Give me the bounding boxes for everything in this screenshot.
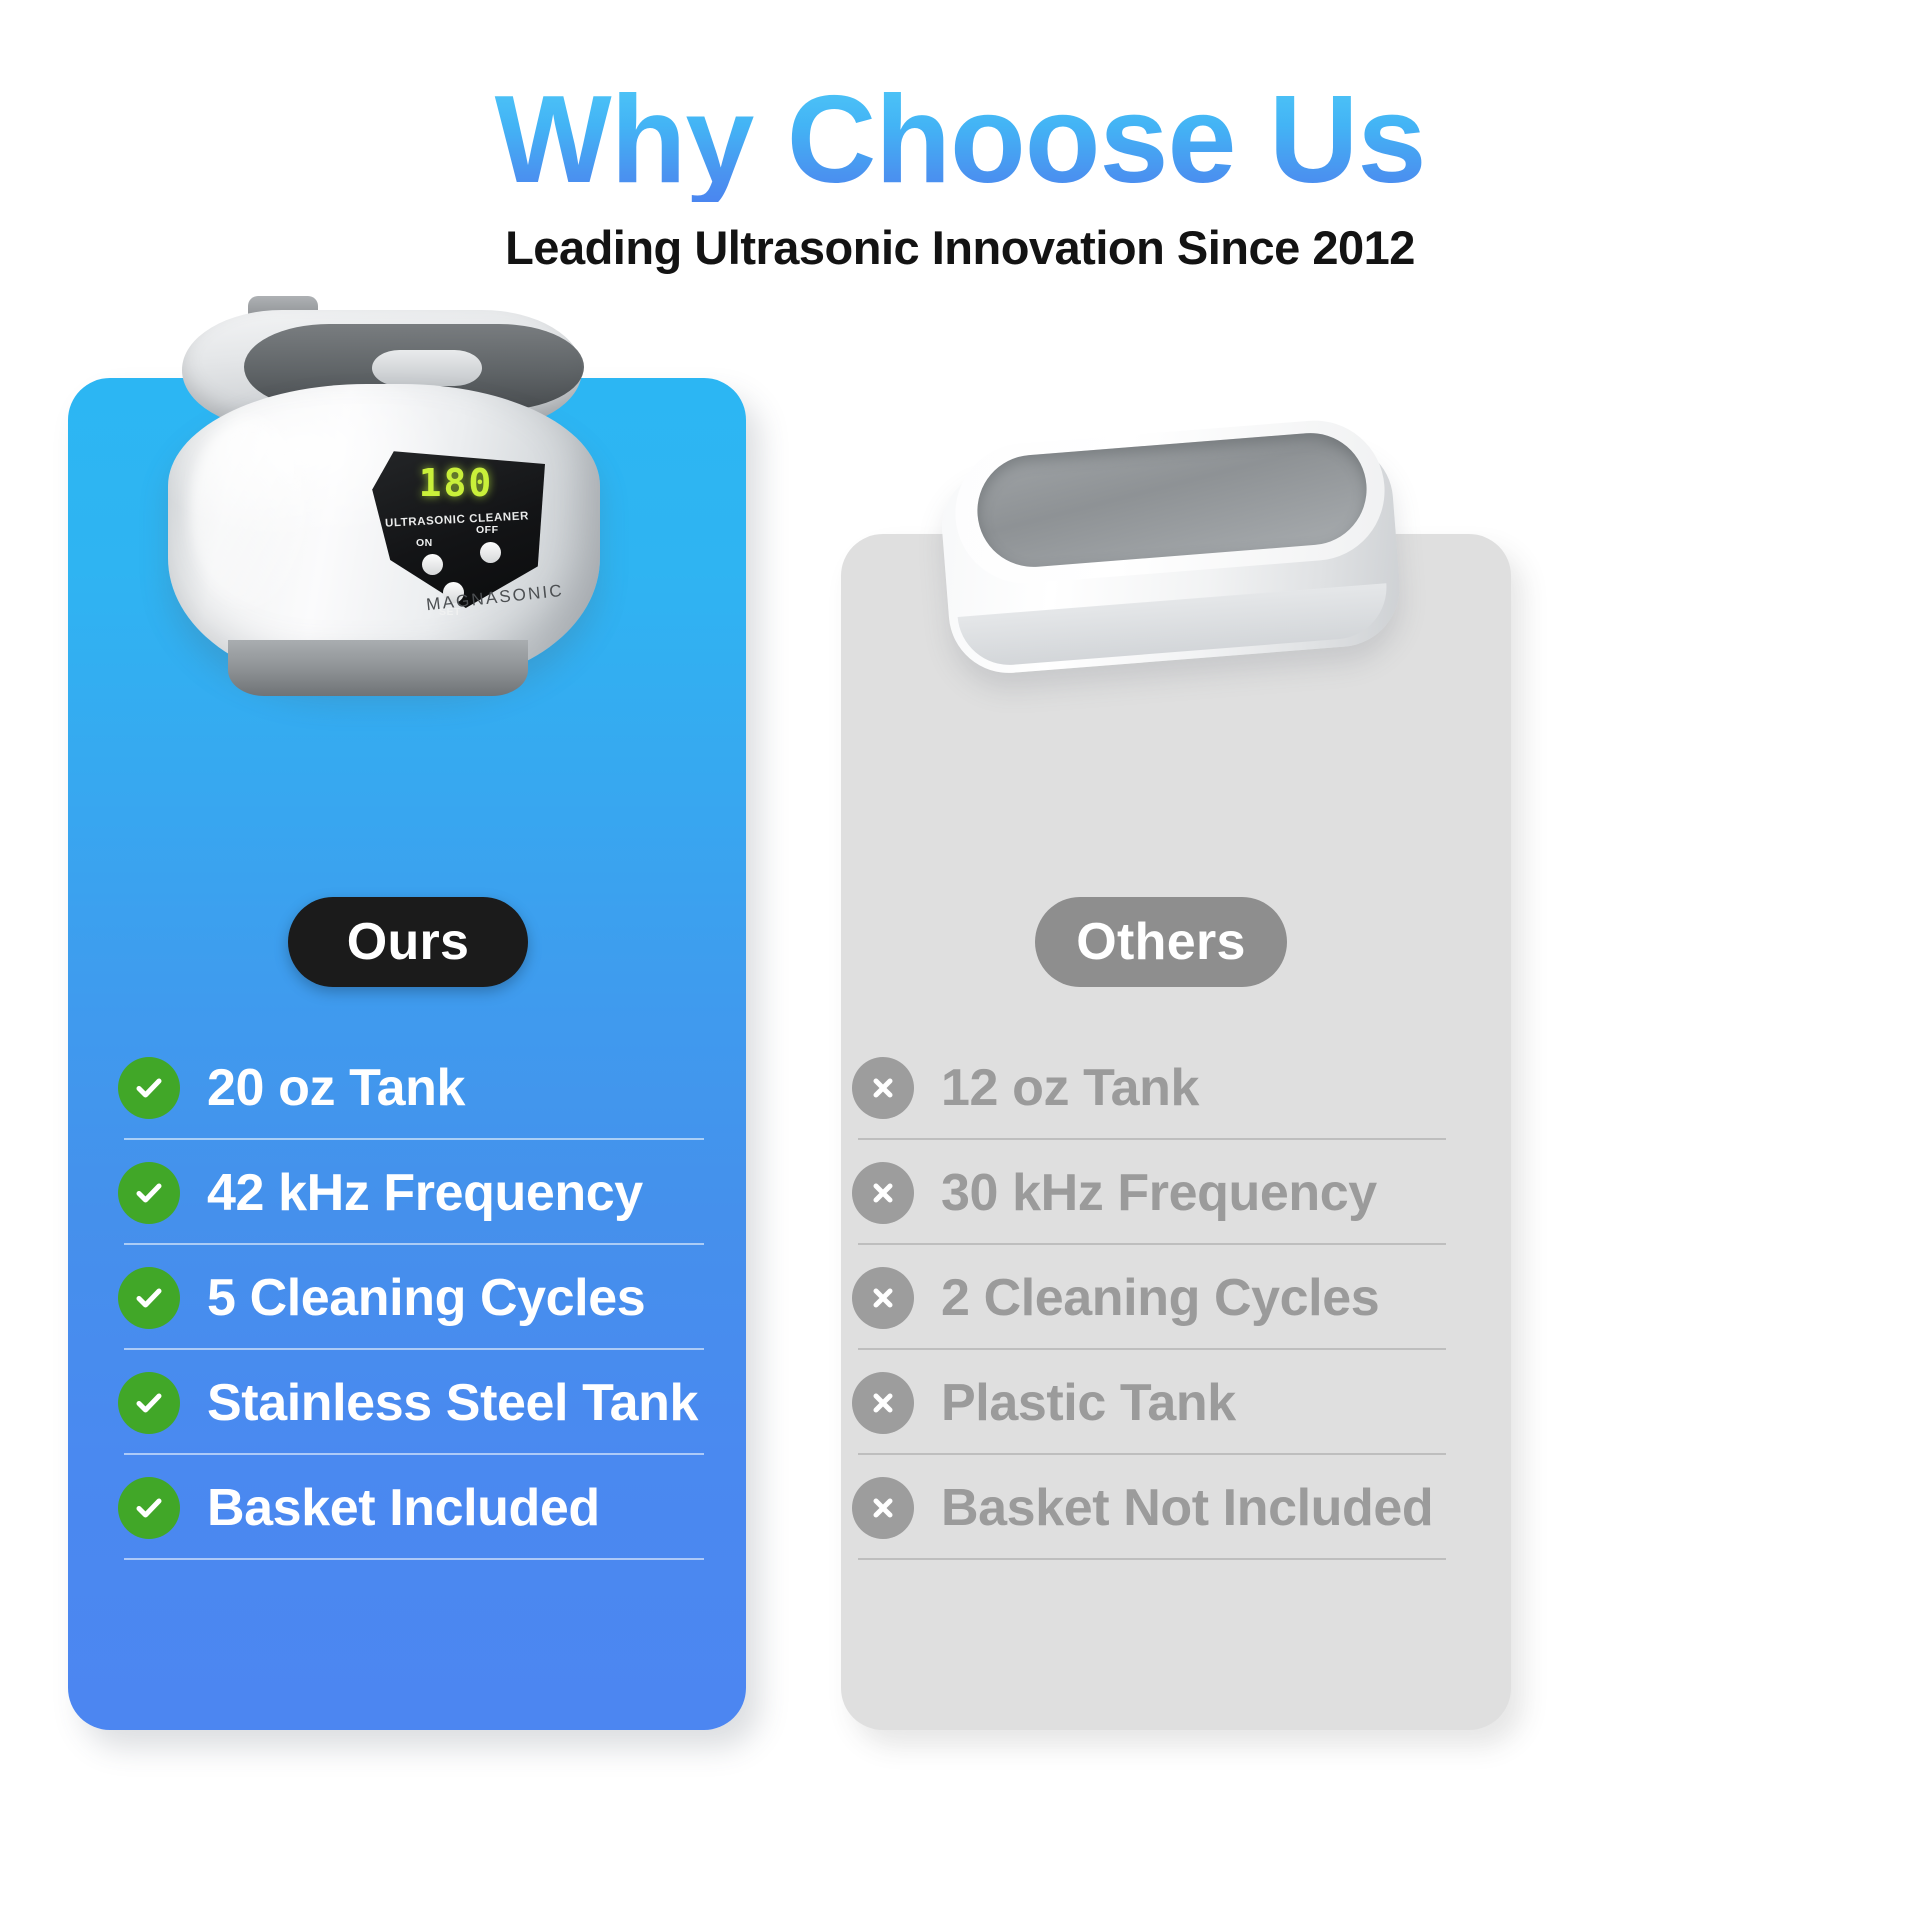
feature-list-others: 12 oz Tank 30 kHz Frequency 2 Cleaning C… (852, 1035, 1452, 1560)
check-circle-icon (118, 1477, 180, 1539)
badge-ours-label: Ours (347, 912, 470, 972)
power-off-button-label: OFF (476, 524, 499, 536)
list-item: 20 oz Tank (118, 1035, 710, 1140)
header: Why Choose Us Leading Ultrasonic Innovat… (0, 0, 1920, 275)
check-circle-icon (118, 1162, 180, 1224)
feature-label: 30 kHz Frequency (941, 1163, 1377, 1223)
list-item: Plastic Tank (852, 1350, 1452, 1455)
list-item: Basket Not Included (852, 1455, 1452, 1560)
cleaner-base (228, 640, 528, 696)
cleaner-body-highlight (190, 418, 310, 608)
feature-label: Stainless Steel Tank (207, 1373, 698, 1433)
badge-ours: Ours (288, 897, 528, 987)
list-item: 30 kHz Frequency (852, 1140, 1452, 1245)
page-subtitle: Leading Ultrasonic Innovation Since 2012 (0, 220, 1920, 275)
feature-label: 2 Cleaning Cycles (941, 1268, 1379, 1328)
power-off-button[interactable] (480, 542, 501, 563)
row-divider (124, 1558, 704, 1560)
power-on-button[interactable] (422, 554, 443, 575)
check-circle-icon (118, 1372, 180, 1434)
list-item: 42 kHz Frequency (118, 1140, 710, 1245)
feature-label: 5 Cleaning Cycles (207, 1268, 645, 1328)
led-display: 180 (408, 463, 504, 503)
feature-label: 20 oz Tank (207, 1058, 465, 1118)
product-image-ours: 180 ULTRASONIC CLEANER ON OFF SET MAGNAS… (150, 288, 620, 718)
list-item: 2 Cleaning Cycles (852, 1245, 1452, 1350)
feature-label: Plastic Tank (941, 1373, 1236, 1433)
cleaner-lid-notch (372, 350, 482, 386)
list-item: 5 Cleaning Cycles (118, 1245, 710, 1350)
cross-circle-icon (852, 1372, 914, 1434)
cross-circle-icon (852, 1162, 914, 1224)
check-circle-icon (118, 1267, 180, 1329)
product-image-others (945, 404, 1413, 704)
feature-label: 12 oz Tank (941, 1058, 1199, 1118)
badge-others-label: Others (1076, 912, 1245, 972)
badge-others: Others (1035, 897, 1287, 987)
cross-circle-icon (852, 1057, 914, 1119)
check-circle-icon (118, 1057, 180, 1119)
feature-label: Basket Included (207, 1478, 600, 1538)
cross-circle-icon (852, 1477, 914, 1539)
feature-label: 42 kHz Frequency (207, 1163, 643, 1223)
list-item: Basket Included (118, 1455, 710, 1560)
row-divider (858, 1558, 1446, 1560)
feature-list-ours: 20 oz Tank 42 kHz Frequency 5 Cleaning C… (118, 1035, 710, 1560)
power-on-button-label: ON (416, 537, 433, 549)
list-item: 12 oz Tank (852, 1035, 1452, 1140)
list-item: Stainless Steel Tank (118, 1350, 710, 1455)
page-title: Why Choose Us (0, 78, 1920, 202)
cross-circle-icon (852, 1267, 914, 1329)
feature-label: Basket Not Included (941, 1478, 1433, 1538)
